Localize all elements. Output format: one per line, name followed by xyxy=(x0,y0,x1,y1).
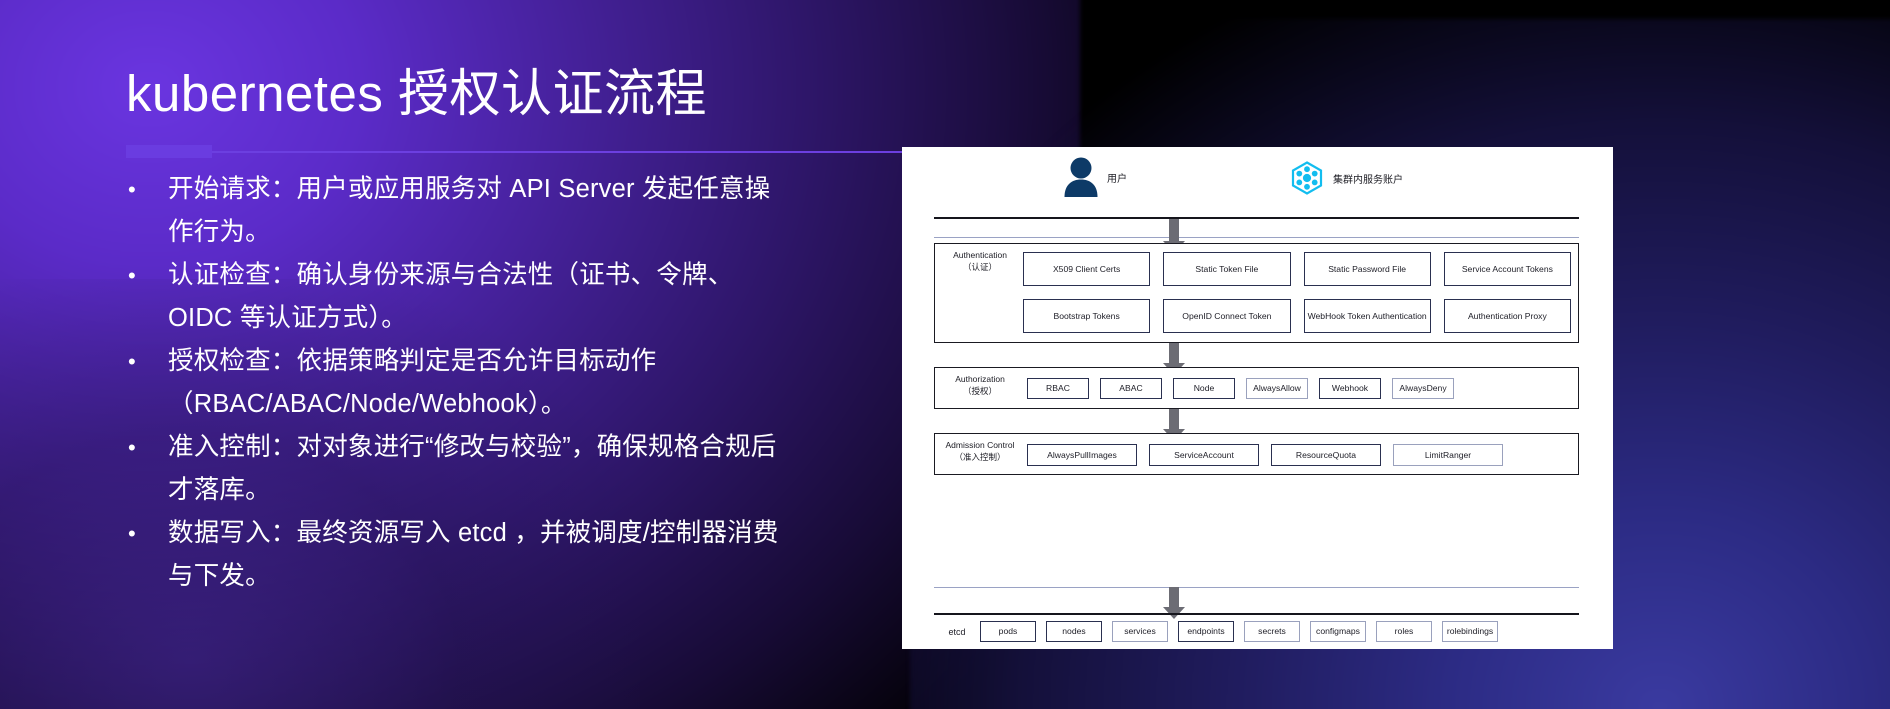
section-admission-control-label: Admission Control （准入控制） xyxy=(941,440,1019,463)
section-authentication-title-cn: （认证） xyxy=(941,262,1019,274)
chip-static-password-file[interactable]: Static Password File xyxy=(1304,252,1431,286)
diagram-panel: 用户 xyxy=(902,147,1613,649)
list-item: 授权检查：依据策略判定是否允许目标动作（RBAC/ABAC/Node/Webho… xyxy=(126,340,786,426)
list-item: 数据写入：最终资源写入 etcd ，并被调度/控制器消费与下发。 xyxy=(126,512,786,598)
user-icon xyxy=(1064,157,1098,197)
list-item: 认证检查：确认身份来源与合法性（证书、令牌、OIDC 等认证方式）。 xyxy=(126,254,786,340)
etcd-row: etcd pods nodes services endpoints secre… xyxy=(934,621,1579,642)
chip-openid-connect-token[interactable]: OpenID Connect Token xyxy=(1163,299,1290,333)
chip-x509-client-certs[interactable]: X509 Client Certs xyxy=(1023,252,1150,286)
title-accent-bar xyxy=(126,145,212,158)
actor-service-account-label: 集群内服务账户 xyxy=(1333,171,1403,186)
divider-pre-etcd-light xyxy=(934,587,1579,588)
chip-alwaysdeny[interactable]: AlwaysDeny xyxy=(1392,378,1454,399)
chip-webhook[interactable]: Webhook xyxy=(1319,378,1381,399)
chip-alwayspullimages[interactable]: AlwaysPullImages xyxy=(1027,444,1137,466)
flow-arrow-to-etcd xyxy=(1169,587,1179,609)
chip-limitranger[interactable]: LimitRanger xyxy=(1393,444,1503,466)
chip-webhook-token-authentication[interactable]: WebHook Token Authentication xyxy=(1304,299,1431,333)
etcd-label: etcd xyxy=(934,627,980,637)
flow-arrow-to-authentication xyxy=(1169,219,1179,243)
authentication-chip-grid: X509 Client Certs Static Token File Stat… xyxy=(1023,252,1571,333)
divider-etcd-dark xyxy=(934,613,1579,615)
chip-pods[interactable]: pods xyxy=(980,621,1036,642)
chip-alwaysallow[interactable]: AlwaysAllow xyxy=(1246,378,1308,399)
chip-abac[interactable]: ABAC xyxy=(1100,378,1162,399)
admission-control-chip-row: AlwaysPullImages ServiceAccount Resource… xyxy=(1027,444,1503,466)
actor-service-account: 集群内服务账户 xyxy=(1290,161,1403,195)
chip-node[interactable]: Node xyxy=(1173,378,1235,399)
section-authorization: Authorization （授权） RBAC ABAC Node Always… xyxy=(934,367,1579,409)
chip-secrets[interactable]: secrets xyxy=(1244,621,1300,642)
flow-arrow-to-authorization xyxy=(1169,343,1179,365)
kubernetes-service-account-icon xyxy=(1290,161,1324,195)
divider-top-dark xyxy=(934,217,1579,219)
chip-service-account-tokens[interactable]: Service Account Tokens xyxy=(1444,252,1571,286)
bullet-list: 开始请求：用户或应用服务对 API Server 发起任意操作行为。 认证检查：… xyxy=(126,168,786,598)
chip-endpoints[interactable]: endpoints xyxy=(1178,621,1234,642)
section-admission-control-title-cn: （准入控制） xyxy=(941,452,1019,464)
chip-bootstrap-tokens[interactable]: Bootstrap Tokens xyxy=(1023,299,1150,333)
chip-services[interactable]: services xyxy=(1112,621,1168,642)
chip-rolebindings[interactable]: rolebindings xyxy=(1442,621,1498,642)
chip-static-token-file[interactable]: Static Token File xyxy=(1163,252,1290,286)
slide-root: kubernetes 授权认证流程 开始请求：用户或应用服务对 API Serv… xyxy=(0,0,1890,709)
section-authorization-title-cn: （授权） xyxy=(941,386,1019,398)
chip-roles[interactable]: roles xyxy=(1376,621,1432,642)
authorization-chip-row: RBAC ABAC Node AlwaysAllow Webhook Alway… xyxy=(1027,378,1454,399)
actor-user-label: 用户 xyxy=(1107,170,1127,185)
section-admission-control-title-en: Admission Control xyxy=(946,440,1015,450)
divider-top-light xyxy=(934,237,1579,238)
section-authorization-title-en: Authorization xyxy=(955,374,1005,384)
chip-rbac[interactable]: RBAC xyxy=(1027,378,1089,399)
list-item: 开始请求：用户或应用服务对 API Server 发起任意操作行为。 xyxy=(126,168,786,254)
section-authentication-label: Authentication （认证） xyxy=(941,250,1019,273)
section-authentication-title-en: Authentication xyxy=(953,250,1007,260)
chip-authentication-proxy[interactable]: Authentication Proxy xyxy=(1444,299,1571,333)
chip-nodes[interactable]: nodes xyxy=(1046,621,1102,642)
chip-resourcequota[interactable]: ResourceQuota xyxy=(1271,444,1381,466)
section-authentication: Authentication （认证） X509 Client Certs St… xyxy=(934,243,1579,343)
diagram-actors-row: 用户 xyxy=(902,155,1613,217)
actor-user: 用户 xyxy=(1064,157,1127,197)
section-authorization-label: Authorization （授权） xyxy=(941,374,1019,397)
flow-arrow-to-admission-control xyxy=(1169,409,1179,431)
title-underline-rule xyxy=(126,151,902,153)
chip-serviceaccount[interactable]: ServiceAccount xyxy=(1149,444,1259,466)
section-admission-control: Admission Control （准入控制） AlwaysPullImage… xyxy=(934,433,1579,475)
chip-configmaps[interactable]: configmaps xyxy=(1310,621,1366,642)
etcd-chip-row: pods nodes services endpoints secrets co… xyxy=(980,621,1498,642)
list-item: 准入控制：对对象进行“修改与校验”，确保规格合规后才落库。 xyxy=(126,426,786,512)
page-title: kubernetes 授权认证流程 xyxy=(126,52,707,126)
